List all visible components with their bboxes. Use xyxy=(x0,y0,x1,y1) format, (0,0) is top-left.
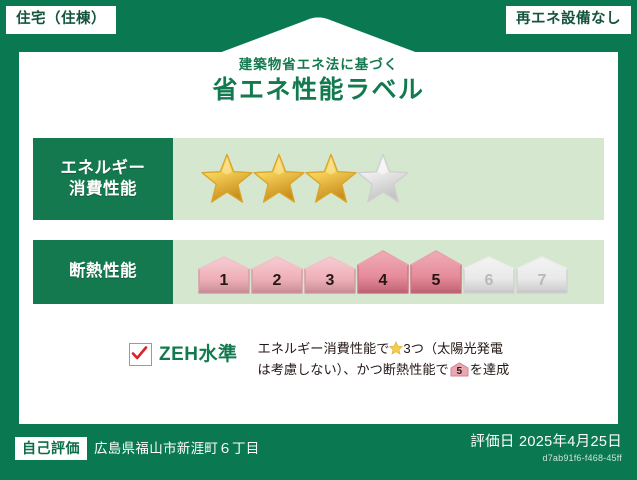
insulation-level-number: 1 xyxy=(197,273,251,289)
zeh-desc-2b: を達成 xyxy=(470,362,510,377)
zeh-description-line1: エネルギー消費性能で 3つ（太陽光発電 xyxy=(258,338,510,359)
energy-performance-label-box: エネルギー 消費性能 xyxy=(33,138,173,220)
insulation-level-6: 6 xyxy=(462,249,516,295)
tag-building-type: 住宅（住棟） xyxy=(6,6,116,34)
footer-right-group: 評価日 2025年4月25日 d7ab91f6-f468-45ff xyxy=(470,434,622,464)
insulation-level-scale: 1234567 xyxy=(173,240,604,304)
row-insulation-performance: 断熱性能 1234567 xyxy=(33,240,604,304)
energy-label-line1: エネルギー xyxy=(61,158,146,179)
zeh-description-line2: は考慮しない）、かつ断熱性能で 5 を達成 xyxy=(258,359,510,380)
star-strip xyxy=(199,151,407,207)
energy-performance-label: 住宅（住棟） 再エネ設備なし 建築物省エネ法に基づく 省エネ性能ラベル エネルギ… xyxy=(0,0,637,480)
property-address: 広島県福山市新涯町６丁目 xyxy=(94,442,260,456)
zeh-desc-1b: 3つ（太陽光発電 xyxy=(403,341,503,356)
tag-renewable-energy: 再エネ設備なし xyxy=(506,6,631,34)
zeh-desc-2a: は考慮しない）、かつ断熱性能で xyxy=(258,362,449,377)
star-icon-4 xyxy=(355,151,411,207)
inline-house-level-icon: 5 xyxy=(450,362,469,377)
insulation-level-number: 2 xyxy=(250,273,304,289)
footer-left-group: 自己評価 広島県福山市新涯町６丁目 xyxy=(15,437,260,460)
insulation-level-1: 1 xyxy=(197,249,251,295)
zeh-section: ZEH水準 エネルギー消費性能で 3つ（太陽光発電 は考慮しない）、かつ断熱性能… xyxy=(33,336,604,398)
label-footer: 自己評価 広島県福山市新涯町６丁目 評価日 2025年4月25日 d7ab91f… xyxy=(0,428,637,480)
energy-star-rating xyxy=(173,138,604,220)
row-energy-performance: エネルギー 消費性能 xyxy=(33,138,604,220)
insulation-level-3: 3 xyxy=(303,249,357,295)
star-icon-3 xyxy=(303,151,359,207)
insulation-level-number: 6 xyxy=(462,273,516,289)
zeh-label: ZEH水準 xyxy=(159,345,238,364)
zeh-description: エネルギー消費性能で 3つ（太陽光発電 は考慮しない）、かつ断熱性能で 5 を達… xyxy=(258,338,510,381)
insulation-level-7: 7 xyxy=(515,249,569,295)
insulation-level-number: 3 xyxy=(303,273,357,289)
insulation-level-number: 5 xyxy=(409,273,463,289)
insulation-performance-label-box: 断熱性能 xyxy=(33,240,173,304)
insulation-level-number: 7 xyxy=(515,273,569,289)
checkbox-checked-icon xyxy=(129,343,152,366)
zeh-desc-1a: エネルギー消費性能で xyxy=(258,341,390,356)
inline-star-icon xyxy=(389,340,403,354)
insulation-level-2: 2 xyxy=(250,249,304,295)
evaluation-date: 評価日 2025年4月25日 xyxy=(470,434,622,451)
insulation-level-number: 4 xyxy=(356,273,410,289)
self-evaluation-badge: 自己評価 xyxy=(15,437,87,460)
document-id: d7ab91f6-f468-45ff xyxy=(470,453,622,464)
star-icon-1 xyxy=(199,151,255,207)
star-icon-2 xyxy=(251,151,307,207)
insulation-level-5: 5 xyxy=(409,249,463,295)
house-strip: 1234567 xyxy=(197,249,568,295)
energy-label-line2: 消費性能 xyxy=(69,179,137,200)
insulation-level-4: 4 xyxy=(356,249,410,295)
zeh-badge: ZEH水準 xyxy=(129,343,238,366)
inline-house-number: 5 xyxy=(450,367,469,377)
insulation-label-text: 断熱性能 xyxy=(69,261,137,282)
